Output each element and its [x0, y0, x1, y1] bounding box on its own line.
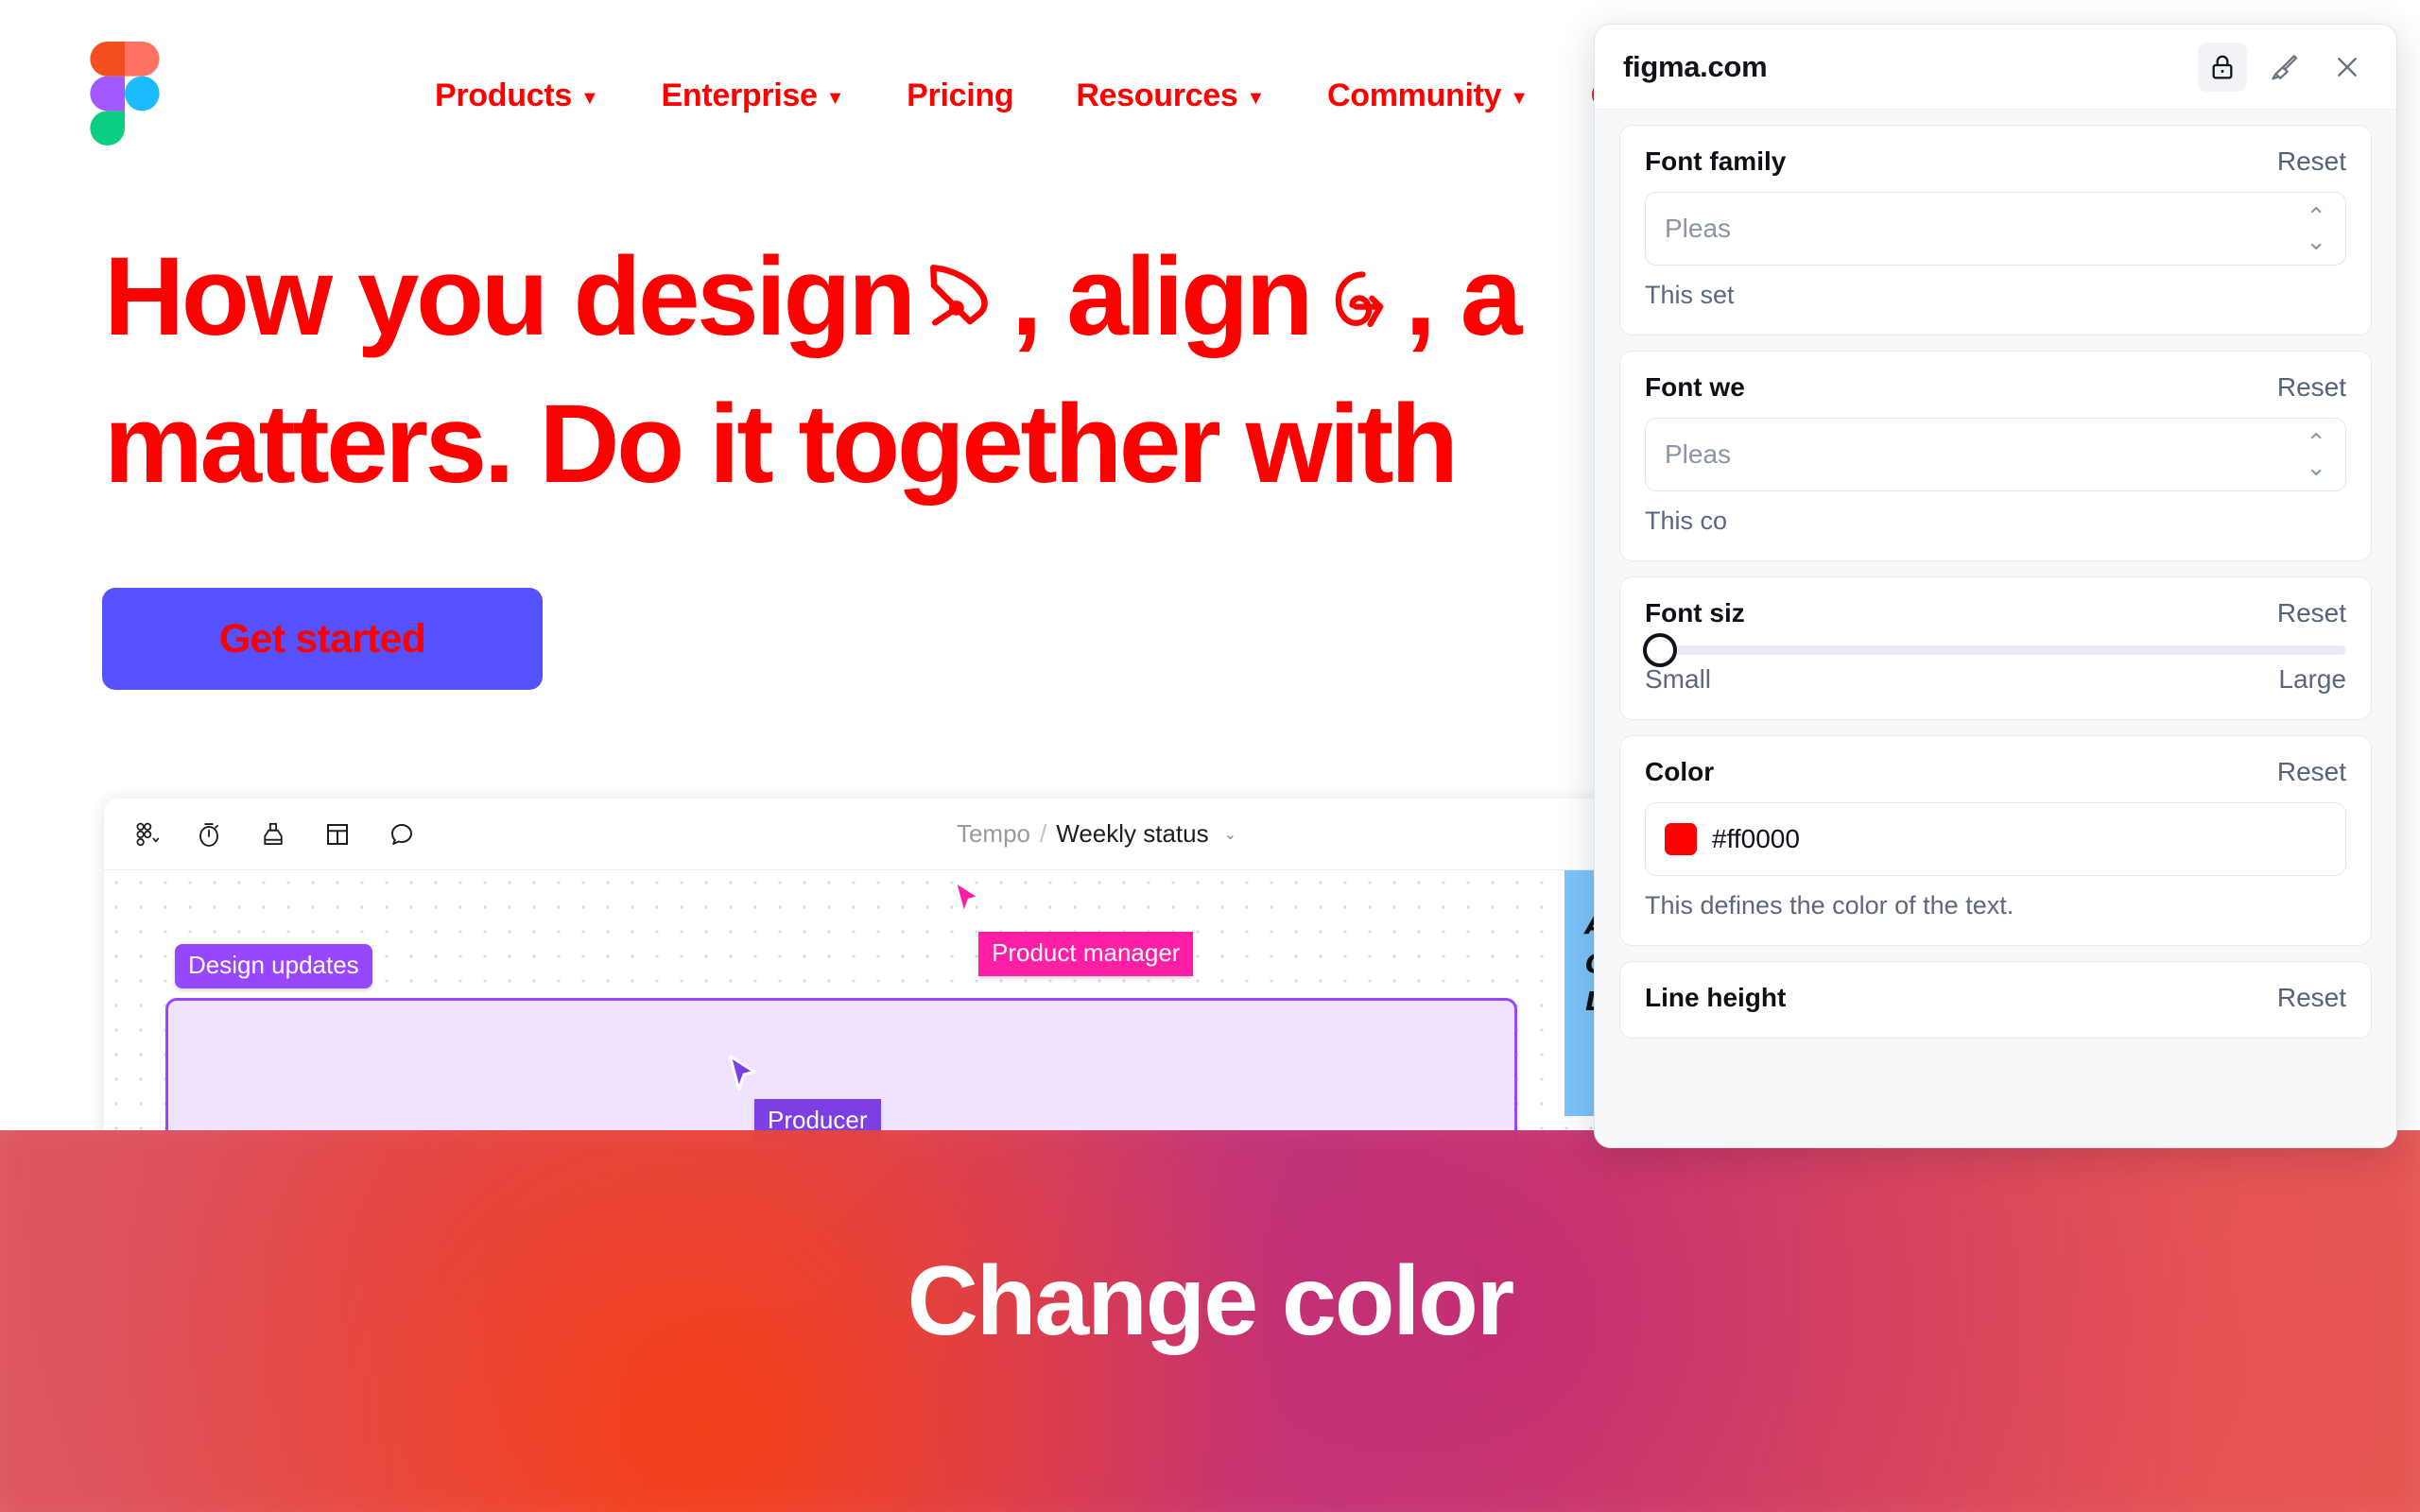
breadcrumb[interactable]: Tempo / Weekly status ⌄ [957, 819, 1236, 849]
field-value: Pleas [1665, 439, 1731, 470]
slider-max-label: Large [2278, 664, 2346, 695]
timer-icon[interactable] [193, 818, 225, 850]
panel-body: Font family Reset Pleas ⌃⌄ This set Font… [1595, 110, 2396, 1147]
font-weight-input[interactable]: Pleas ⌃⌄ [1645, 418, 2346, 491]
setting-label: Color [1645, 757, 1714, 787]
canvas-tag-design-updates[interactable]: Design updates [175, 944, 372, 988]
setting-hint: This set [1645, 281, 2346, 310]
setting-label: Font we [1645, 372, 1745, 403]
comment-icon[interactable] [386, 818, 418, 850]
setting-hint: This defines the color of the text. [1645, 891, 2346, 920]
breadcrumb-separator: / [1040, 819, 1046, 849]
nav-label: Community [1327, 77, 1501, 114]
breadcrumb-project: Tempo [957, 819, 1030, 849]
reset-button[interactable]: Reset [2277, 598, 2346, 628]
chevron-down-icon: ▼ [580, 89, 599, 108]
nav-label: Products [435, 77, 572, 114]
close-icon[interactable] [2323, 43, 2372, 92]
panel-domain-label: figma.com [1623, 50, 1767, 84]
panel-header: figma.com [1595, 25, 2396, 110]
chevron-down-icon[interactable]: ⌄ [1224, 825, 1236, 844]
lock-icon[interactable] [2198, 43, 2247, 92]
reset-button[interactable]: Reset [2277, 146, 2346, 177]
nav-item-pricing[interactable]: Pricing [907, 77, 1013, 114]
change-color-overlay: Change color [0, 1130, 2420, 1512]
hero-text-d: , a [1405, 234, 1519, 359]
nav-item-community[interactable]: Community ▼ [1327, 77, 1529, 114]
setting-hint: This co [1645, 507, 2346, 536]
setting-color: Color Reset #ff0000 This defines the col… [1619, 735, 2372, 946]
hero-text-align: , align [1011, 234, 1310, 359]
paintbrush-icon[interactable] [2260, 43, 2309, 92]
pen-nib-icon [919, 249, 1006, 360]
swirl-arrow-icon [1316, 249, 1399, 360]
canvas-tag-product-manager[interactable]: Product manager [978, 932, 1193, 976]
hero-text-a: How you [104, 234, 573, 359]
cursor-producer [728, 1055, 760, 1092]
chevron-down-icon: ▼ [1510, 89, 1529, 108]
color-swatch-preview[interactable] [1665, 823, 1697, 855]
setting-font-family: Font family Reset Pleas ⌃⌄ This set [1619, 125, 2372, 335]
setting-font-weight: Font we Reset Pleas ⌃⌄ This co [1619, 351, 2372, 561]
layout-icon[interactable] [321, 818, 354, 850]
stepper-icon[interactable]: ⌃⌄ [2306, 204, 2326, 253]
reset-button[interactable]: Reset [2277, 983, 2346, 1013]
setting-font-size: Font siz Reset Small Large [1619, 576, 2372, 720]
field-value: Pleas [1665, 214, 1731, 244]
figma-logo-icon[interactable] [90, 42, 160, 146]
nav-label: Resources [1076, 77, 1237, 114]
overlay-title: Change color [0, 1246, 2420, 1358]
breadcrumb-file: Weekly status [1056, 819, 1208, 849]
setting-line-height: Line height Reset [1619, 961, 2372, 1039]
nav-item-resources[interactable]: Resources ▼ [1076, 77, 1265, 114]
extension-panel: figma.com [1594, 24, 2397, 1148]
font-family-input[interactable]: Pleas ⌃⌄ [1645, 192, 2346, 266]
slider-handle[interactable] [1643, 633, 1677, 667]
nav-item-products[interactable]: Products ▼ [435, 77, 598, 114]
nav-label: Pricing [907, 77, 1013, 114]
figma-menu-icon[interactable] [129, 818, 161, 850]
setting-label: Font family [1645, 146, 1786, 177]
setting-label: Line height [1645, 983, 1786, 1013]
get-started-button[interactable]: Get started [102, 588, 543, 690]
primary-nav: Products ▼ Enterprise ▼ Pricing Resource… [435, 77, 1663, 114]
slider-min-label: Small [1645, 664, 1711, 695]
chevron-down-icon: ▼ [826, 89, 845, 108]
stamp-icon[interactable] [257, 818, 289, 850]
color-input[interactable]: #ff0000 [1645, 802, 2346, 876]
cursor-product-manager [953, 880, 985, 918]
nav-label: Enterprise [661, 77, 817, 114]
setting-label: Font siz [1645, 598, 1745, 628]
color-hex-value: #ff0000 [1712, 824, 1800, 854]
chevron-down-icon: ▼ [1246, 89, 1265, 108]
font-size-slider[interactable] [1645, 645, 2346, 655]
nav-item-enterprise[interactable]: Enterprise ▼ [661, 77, 844, 114]
reset-button[interactable]: Reset [2277, 757, 2346, 787]
stepper-icon[interactable]: ⌃⌄ [2306, 430, 2326, 479]
hero-text-design: design [573, 234, 912, 359]
reset-button[interactable]: Reset [2277, 372, 2346, 403]
